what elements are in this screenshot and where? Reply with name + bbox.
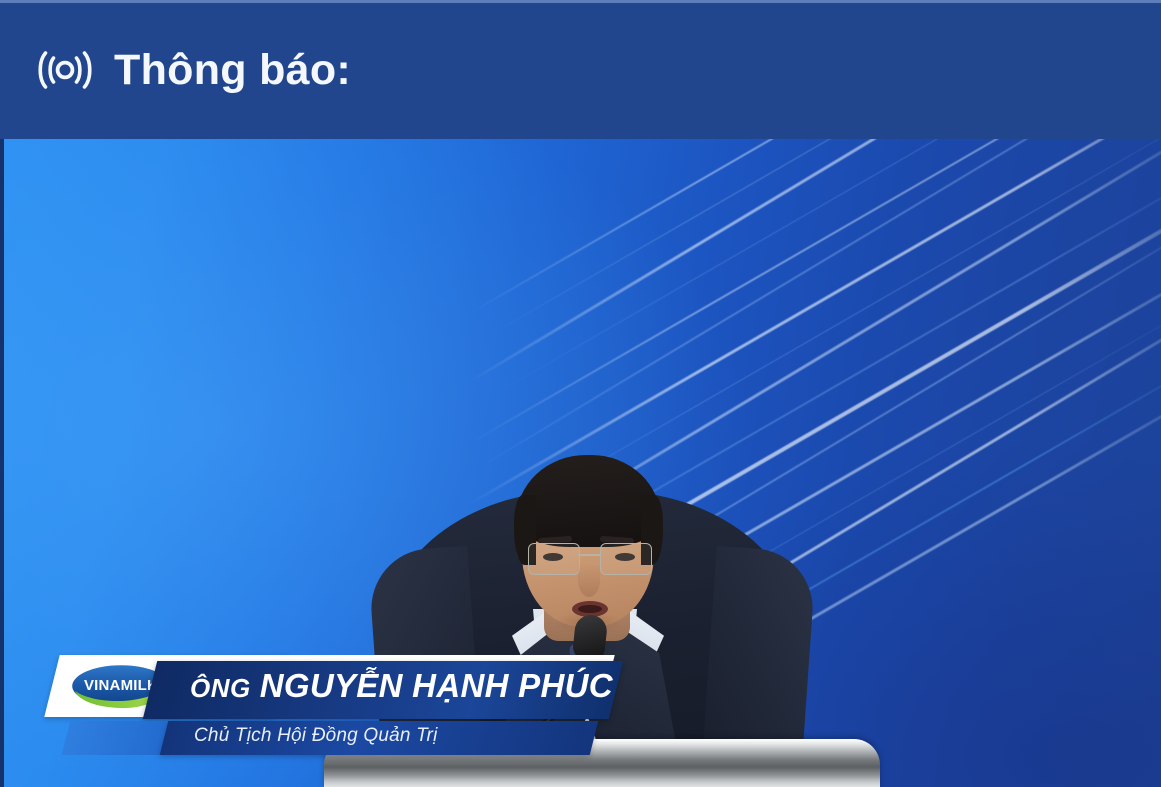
video-player-frame[interactable]: VINAMILK ÔNG NGUYỄN HẠNH PHÚC Chủ Tịch H… [0,139,1161,787]
hair [516,455,661,547]
nose [578,563,600,597]
mouth-inner [578,605,602,613]
broadcast-icon [34,45,96,95]
announcement-header-content: Thông báo: [34,45,351,95]
chrome-podium [324,739,880,787]
speaker-figure [4,139,1161,787]
announcement-header: Thông báo: [0,0,1161,139]
lens-left [528,543,580,575]
page-title: Thông báo: [114,49,351,92]
glasses-bridge [578,554,600,556]
lens-right [600,543,652,575]
broadcast-screen: Thông báo: [0,0,1161,787]
